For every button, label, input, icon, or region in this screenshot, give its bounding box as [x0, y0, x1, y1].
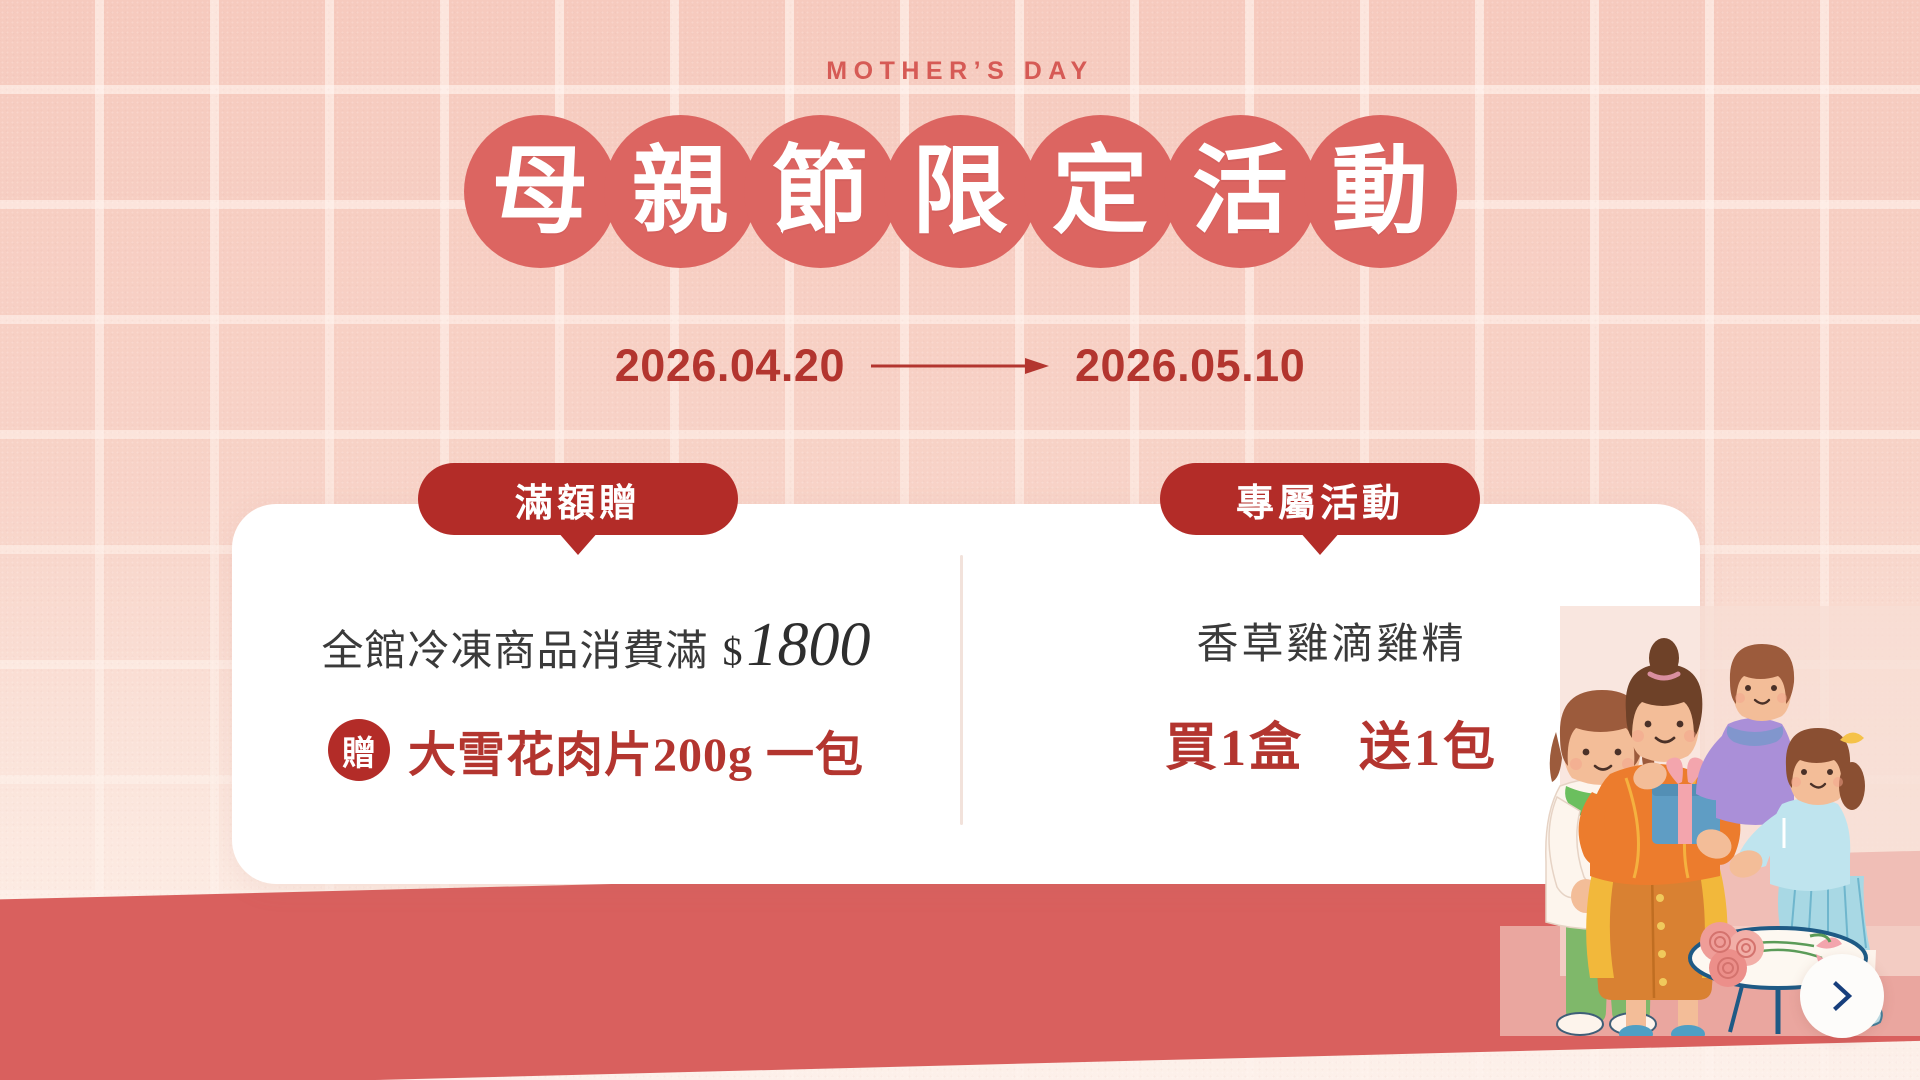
title-char-circle: 節	[744, 115, 897, 268]
product-name: 香草雞滴雞精	[1196, 610, 1466, 671]
title-char-circle: 定	[1024, 115, 1177, 268]
next-slide-button[interactable]	[1800, 954, 1884, 1038]
gift-description: 大雪花肉片200g 一包	[408, 715, 864, 785]
title-char-circle: 活	[1164, 115, 1317, 268]
eyebrow-text: MOTHER’S DAY	[0, 57, 1920, 86]
title-char-circle: 親	[604, 115, 757, 268]
offer-terms: 買1盒 送1包	[1165, 705, 1498, 780]
chevron-right-icon	[1823, 977, 1861, 1015]
date-end: 2026.05.10	[1075, 340, 1305, 392]
offer-condition-text: 全館冷凍商品消費滿	[321, 617, 708, 678]
mothers-day-promo-banner: MOTHER’S DAY 母 親 節 限 定 活 動 2026.04.20 20…	[0, 0, 1920, 1080]
title-char-circle: 限	[884, 115, 1037, 268]
title-char-circle: 動	[1304, 115, 1457, 268]
offer-column-left: 全館冷凍商品消費滿 $ 1800 贈 大雪花肉片200g 一包	[232, 610, 960, 785]
offer-gift-line: 贈 大雪花肉片200g 一包	[328, 715, 864, 785]
badge-exclusive-event: 專屬活動	[1160, 463, 1480, 535]
title-char-circle: 母	[464, 115, 617, 268]
offer-condition-line: 全館冷凍商品消費滿 $ 1800	[321, 610, 870, 681]
main-title: 母 親 節 限 定 活 動	[0, 115, 1920, 268]
currency-symbol: $	[723, 628, 744, 675]
gift-chip-icon: 贈	[328, 719, 390, 781]
offer-amount: 1800	[747, 610, 871, 681]
right-arrow-icon	[871, 355, 1049, 377]
date-start: 2026.04.20	[615, 340, 845, 392]
campaign-date-range: 2026.04.20 2026.05.10	[0, 340, 1920, 392]
offer-column-right: 香草雞滴雞精 買1盒 送1包	[963, 610, 1700, 780]
badge-spend-threshold-gift: 滿額贈	[418, 463, 738, 535]
